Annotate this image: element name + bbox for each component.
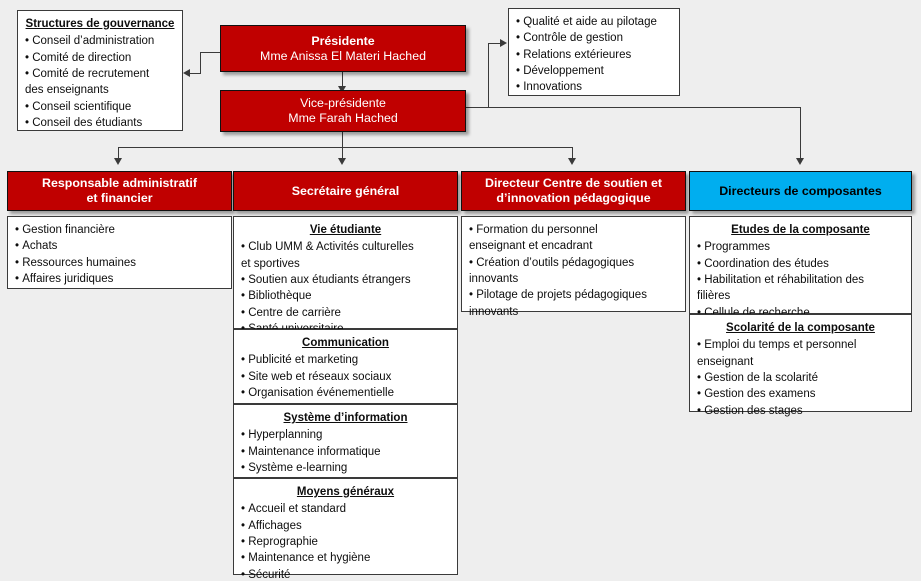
president-role: Présidente [260, 34, 426, 49]
governance-list: Conseil d’administration Comité de direc… [25, 33, 175, 131]
arrowhead-staff-units [500, 39, 507, 47]
column-header-line2: et financier [42, 191, 197, 206]
list-item: Gestion financière [15, 222, 224, 238]
column-header-responsable-administratif[interactable]: Responsable administratif et financier [7, 171, 232, 211]
list-item: Bibliothèque [241, 288, 450, 304]
list-item: Pilotage de projets pédagogiques [469, 287, 678, 303]
list-item: Gestion des examens [697, 386, 904, 402]
connector-president-to-governance-h1 [200, 52, 221, 53]
list-item: Comité de recrutement [25, 66, 175, 82]
column-header-line1: Responsable administratif [42, 176, 197, 191]
column-header-secretaire-general[interactable]: Secrétaire général [233, 171, 458, 211]
column-section-box-etudes-composante: Etudes de la composante Programmes Coord… [689, 216, 912, 314]
connector-vice-to-directors-h [466, 107, 801, 108]
vice-president-name: Mme Farah Hached [288, 111, 398, 126]
list-item: Ressources humaines [15, 255, 224, 271]
list-item: Conseil d’administration [25, 33, 175, 49]
column-header-directeur-centre-soutien[interactable]: Directeur Centre de soutien et d’innovat… [461, 171, 686, 211]
list-item: Habilitation et réhabilitation des [697, 272, 904, 288]
connector-vice-to-staff-v [488, 43, 489, 108]
column-section-box: Formation du personnel enseignant et enc… [461, 216, 686, 312]
list-item: et sportives [241, 256, 450, 272]
governance-title: Structures de gouvernance [25, 17, 175, 31]
governance-structures-box: Structures de gouvernance Conseil d’admi… [17, 10, 183, 131]
list-item: innovants [469, 304, 678, 320]
column-header-text: Directeurs de composantes [719, 184, 882, 199]
column-header-text: Secrétaire général [292, 184, 399, 199]
column-header-directeurs-composantes[interactable]: Directeurs de composantes [689, 171, 912, 211]
list-item: Conseil des étudiants [25, 115, 175, 131]
list-item: Programmes [697, 239, 904, 255]
vice-president-role: Vice-présidente [288, 96, 398, 111]
column-section-box: Gestion financière Achats Ressources hum… [7, 216, 232, 289]
list-item: Affaires juridiques [15, 271, 224, 287]
column-header-text: Responsable administratif et financier [42, 176, 197, 205]
column-section-list: Club UMM & Activités culturelles et spor… [241, 239, 450, 337]
list-item: Centre de carrière [241, 305, 450, 321]
column-section-list: Publicité et marketing Site web et résea… [241, 352, 450, 401]
section-title: Scolarité de la composante [697, 321, 904, 335]
list-item: enseignant [697, 354, 904, 370]
column-header-line2: d’innovation pédagogique [485, 191, 662, 206]
list-item: Conseil scientifique [25, 99, 175, 115]
list-item: Soutien aux étudiants étrangers [241, 272, 450, 288]
column-header-text: Directeur Centre de soutien et d’innovat… [485, 176, 662, 205]
list-item: Gestion des stages [697, 403, 904, 419]
list-item: filières [697, 288, 904, 304]
column-section-list: Formation du personnel enseignant et enc… [469, 222, 678, 320]
list-item: Reprographie [241, 534, 450, 550]
arrowhead-col3 [568, 158, 576, 165]
org-chart-canvas: Structures de gouvernance Conseil d’admi… [0, 0, 921, 581]
arrowhead-col2 [338, 158, 346, 165]
list-item: Sécurité [241, 567, 450, 581]
list-item: Site web et réseaux sociaux [241, 369, 450, 385]
list-item: Affichages [241, 518, 450, 534]
list-item: Gestion de la scolarité [697, 370, 904, 386]
list-item: Contrôle de gestion [516, 30, 672, 46]
list-item: Maintenance informatique [241, 444, 450, 460]
connector-president-to-governance-v [200, 52, 201, 74]
column-section-box-scolarite-composante: Scolarité de la composante Emploi du tem… [689, 314, 912, 412]
column-section-list: Programmes Coordination des études Habil… [697, 239, 904, 321]
column-section-list: Accueil et standard Affichages Reprograp… [241, 501, 450, 581]
column-section-list: Gestion financière Achats Ressources hum… [15, 222, 224, 287]
list-item: des enseignants [25, 82, 175, 98]
list-item: Développement [516, 63, 672, 79]
list-item: Qualité et aide au pilotage [516, 14, 672, 30]
list-item: Comité de direction [25, 50, 175, 66]
section-title: Système d’information [241, 411, 450, 425]
list-item: Formation du personnel [469, 222, 678, 238]
list-item: Accueil et standard [241, 501, 450, 517]
list-item: Emploi du temps et personnel [697, 337, 904, 353]
list-item: Relations extérieures [516, 47, 672, 63]
list-item: Innovations [516, 79, 672, 95]
president-box[interactable]: Présidente Mme Anissa El Materi Hached [220, 25, 466, 72]
column-section-box-moyens-generaux: Moyens généraux Accueil et standard Affi… [233, 478, 458, 575]
list-item: Club UMM & Activités culturelles [241, 239, 450, 255]
staff-units-box: Qualité et aide au pilotage Contrôle de … [508, 8, 680, 96]
arrowhead-governance [183, 69, 190, 77]
connector-president-to-governance-h2 [190, 73, 201, 74]
list-item: Hyperplanning [241, 427, 450, 443]
column-section-box-communication: Communication Publicité et marketing Sit… [233, 329, 458, 404]
list-item: Organisation événementielle [241, 385, 450, 401]
section-title: Vie étudiante [241, 223, 450, 237]
section-title: Moyens généraux [241, 485, 450, 499]
column-section-list: Emploi du temps et personnel enseignant … [697, 337, 904, 419]
president-text: Présidente Mme Anissa El Materi Hached [260, 34, 426, 63]
column-section-box-systeme-information: Système d’information Hyperplanning Main… [233, 404, 458, 478]
list-item: Coordination des études [697, 256, 904, 272]
column-section-box-vie-etudiante: Vie étudiante Club UMM & Activités cultu… [233, 216, 458, 329]
staff-units-list: Qualité et aide au pilotage Contrôle de … [516, 14, 672, 96]
column-header-line1: Directeurs de composantes [719, 184, 882, 199]
column-header-line1: Directeur Centre de soutien et [485, 176, 662, 191]
list-item: Maintenance et hygiène [241, 550, 450, 566]
arrowhead-directors [796, 158, 804, 165]
list-item: Achats [15, 238, 224, 254]
list-item: innovants [469, 271, 678, 287]
connector-vice-to-directors-v [800, 107, 801, 163]
list-item: Création d’outils pédagogiques [469, 255, 678, 271]
list-item: Publicité et marketing [241, 352, 450, 368]
list-item: enseignant et encadrant [469, 238, 678, 254]
arrowhead-col1 [114, 158, 122, 165]
list-item: Système e-learning [241, 460, 450, 476]
column-section-list: Hyperplanning Maintenance informatique S… [241, 427, 450, 476]
vice-president-text: Vice-présidente Mme Farah Hached [288, 96, 398, 125]
vice-president-box[interactable]: Vice-présidente Mme Farah Hached [220, 90, 466, 132]
president-name: Mme Anissa El Materi Hached [260, 49, 426, 64]
connector-main-bus [118, 147, 573, 148]
section-title: Etudes de la composante [697, 223, 904, 237]
column-header-line1: Secrétaire général [292, 184, 399, 199]
section-title: Communication [241, 336, 450, 350]
